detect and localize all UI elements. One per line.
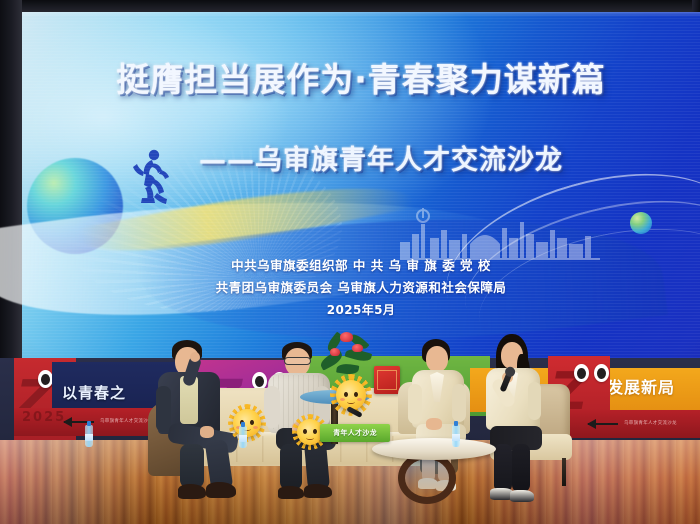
city-skyline-icon — [400, 204, 600, 260]
event-date: 2025年5月 — [22, 299, 700, 322]
shoe — [278, 486, 304, 499]
eye-icon — [38, 370, 53, 388]
headline-container: 挺膺担当展作为·青春聚力谋新篇 — [22, 62, 700, 98]
lower-leg-2 — [280, 444, 302, 490]
plush-eye — [313, 429, 317, 434]
gradient-sphere-small-icon — [630, 212, 652, 234]
flower — [330, 348, 340, 356]
screen-frame-left — [0, 0, 22, 380]
sneaker — [510, 490, 534, 502]
micro-caption-right: 乌审旗青年人才交流沙龙 — [624, 420, 677, 426]
arm-left — [156, 386, 171, 432]
plush-cheek — [340, 398, 345, 401]
plush-face — [233, 409, 261, 437]
arm-left — [408, 384, 422, 424]
mascot-eyes-right — [574, 364, 609, 382]
hand — [190, 352, 200, 362]
head — [426, 346, 448, 372]
water-bottle-2 — [239, 426, 247, 448]
plush-mouth — [347, 400, 355, 404]
bottle-label — [85, 434, 93, 441]
lower-leg-2 — [180, 444, 204, 488]
arm-left — [264, 386, 280, 428]
eyeglasses-icon — [284, 357, 311, 365]
organizer-block: 中共乌审旗委组织部 中 共 乌 审 旗 委 党 校 共青团乌审旗委员会 乌审旗人… — [22, 255, 700, 322]
plush-cheek — [253, 426, 258, 429]
red-gift-box — [374, 366, 400, 394]
plush-face — [336, 380, 366, 410]
eye-icon — [594, 364, 609, 382]
plush-eye — [250, 420, 254, 425]
bottle-label — [239, 435, 247, 442]
shoe — [178, 484, 206, 499]
shoe — [206, 482, 236, 498]
year-mark-left: 2025 — [22, 410, 66, 425]
screen-top-glow — [22, 12, 700, 17]
organizer-line-2: 共青团乌审旗委员会 乌审旗人力资源和社会保障局 — [22, 277, 700, 299]
eye-icon — [574, 364, 589, 382]
arm-right — [452, 384, 466, 422]
flower — [340, 332, 353, 342]
subheadline-container: ——乌审旗青年人才交流沙龙 — [22, 138, 700, 177]
arm-right — [528, 382, 541, 420]
banner-slogan-left: 以青春之 — [62, 382, 126, 403]
plush-eye — [344, 392, 348, 397]
shoe — [304, 484, 332, 498]
event-headline: 挺膺担当展作为·青春聚力谋新篇 — [22, 62, 700, 98]
right-strip-arrow-icon — [588, 423, 618, 425]
flower — [352, 344, 363, 352]
lower-leg — [494, 444, 512, 492]
plush-mascot-1 — [336, 380, 366, 410]
screenshot-root: 挺膺担当展作为·青春聚力谋新篇 ——乌审旗青年人才交流沙龙 中共乌审旗委组织部 … — [0, 0, 700, 524]
lower-leg-2 — [512, 444, 530, 492]
plush-cheek — [357, 398, 362, 401]
event-subtitle: ——乌审旗青年人才交流沙龙 — [62, 138, 700, 177]
plush-eye — [354, 392, 358, 397]
plush-mascot-2 — [233, 409, 261, 437]
plush-mouth — [306, 436, 314, 440]
bottle-label — [452, 434, 460, 441]
hands-on-lap — [426, 418, 442, 430]
table-sign-text: 青年人才沙龙 — [320, 424, 390, 442]
resting-hand — [200, 426, 214, 438]
plush-eye — [303, 429, 307, 434]
micro-caption-left: 乌审旗青年人才交流沙龙 — [100, 418, 153, 424]
table-sign: 青年人才沙龙 — [320, 424, 390, 442]
water-bottle-3 — [452, 425, 460, 447]
water-bottle-1 — [85, 425, 93, 447]
coffee-table — [372, 438, 496, 490]
organizer-line-1: 中共乌审旗委组织部 中 共 乌 审 旗 委 党 校 — [22, 255, 700, 277]
table-top — [372, 438, 496, 460]
